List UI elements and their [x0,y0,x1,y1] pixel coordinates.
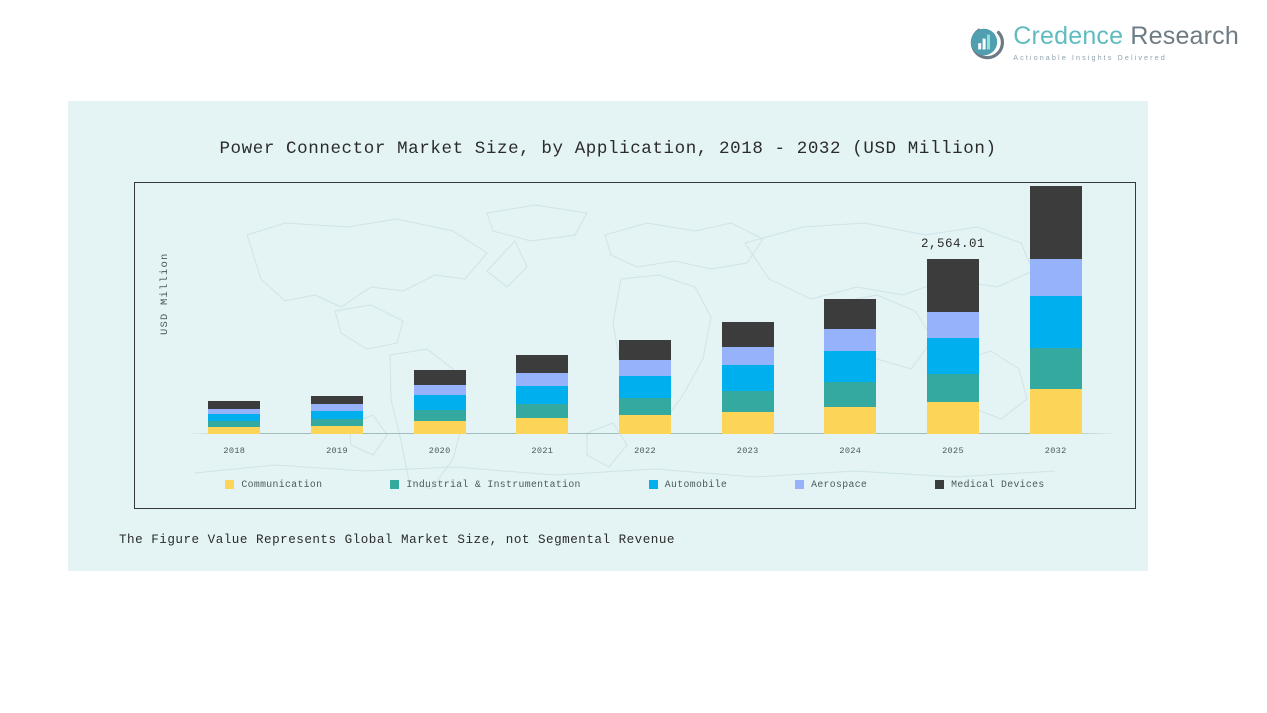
chart-legend: CommunicationIndustrial & Instrumentatio… [135,479,1135,490]
bar-segment-2018-communication[interactable] [208,427,260,434]
brand-name: Credence Research [1013,24,1239,49]
x-axis-tick-2019: 2019 [326,446,348,456]
bar-segment-2021-industrial-instrumentation[interactable] [516,404,568,418]
bar-2019[interactable] [311,396,363,434]
legend-label-aerospace: Aerospace [811,479,867,490]
legend-item-industrial-instrumentation[interactable]: Industrial & Instrumentation [390,479,580,490]
x-axis-tick-2018: 2018 [223,446,245,456]
bar-segment-2024-communication[interactable] [824,407,876,434]
bar-segment-2021-aerospace[interactable] [516,373,568,386]
x-axis-tick-2021: 2021 [531,446,553,456]
legend-item-medical-devices[interactable]: Medical Devices [935,479,1044,490]
x-axis-tick-2032: 2032 [1045,446,1067,456]
bar-segment-2022-medical-devices[interactable] [619,340,671,361]
legend-swatch-automobile [649,480,658,489]
legend-swatch-aerospace [795,480,804,489]
legend-item-communication[interactable]: Communication [225,479,322,490]
legend-label-automobile: Automobile [665,479,727,490]
brand-logo: Credence Research Actionable Insights De… [968,24,1239,61]
chart-title: Power Connector Market Size, by Applicat… [68,139,1148,159]
bar-segment-2032-aerospace[interactable] [1030,259,1082,296]
bar-2025[interactable]: 2,564.01 [927,259,979,434]
legend-label-industrial-instrumentation: Industrial & Instrumentation [406,479,580,490]
figure-note: The Figure Value Represents Global Marke… [119,533,675,547]
bar-segment-2020-automobile[interactable] [414,395,466,410]
bar-segment-2025-industrial-instrumentation[interactable] [927,374,979,403]
bar-segment-2023-aerospace[interactable] [722,347,774,365]
brand-wordmark: Credence Research Actionable Insights De… [1013,24,1239,61]
brand-tagline: Actionable Insights Delivered [1013,54,1239,61]
bar-segment-2019-communication[interactable] [311,426,363,434]
x-axis-tick-2024: 2024 [839,446,861,456]
bar-segment-2018-medical-devices[interactable] [208,401,260,408]
bar-segment-2021-communication[interactable] [516,418,568,434]
bar-segment-2032-communication[interactable] [1030,389,1082,434]
bar-segment-2022-communication[interactable] [619,415,671,434]
bar-segment-2023-medical-devices[interactable] [722,322,774,347]
legend-swatch-communication [225,480,234,489]
bar-segment-2020-communication[interactable] [414,421,466,434]
bar-segment-2022-industrial-instrumentation[interactable] [619,398,671,415]
bar-segment-2025-communication[interactable] [927,402,979,434]
brand-name-part2: Research [1130,22,1239,50]
plot-area: USD Million 2018201920202021202220232024… [134,182,1136,509]
bar-segment-2025-aerospace[interactable] [927,312,979,338]
legend-item-aerospace[interactable]: Aerospace [795,479,867,490]
legend-item-automobile[interactable]: Automobile [649,479,727,490]
bar-segment-2024-industrial-instrumentation[interactable] [824,382,876,407]
bar-segment-2019-industrial-instrumentation[interactable] [311,419,363,426]
bar-segment-2022-aerospace[interactable] [619,360,671,376]
bar-segment-2023-automobile[interactable] [722,365,774,391]
x-axis-tick-2025: 2025 [942,446,964,456]
bar-2021[interactable] [516,355,568,434]
bar-segment-2032-industrial-instrumentation[interactable] [1030,348,1082,389]
bar-2020[interactable] [414,370,466,434]
bar-segment-2018-automobile[interactable] [208,414,260,421]
x-axis-tick-2023: 2023 [737,446,759,456]
bar-segment-2020-industrial-instrumentation[interactable] [414,410,466,422]
bar-segment-2020-medical-devices[interactable] [414,370,466,384]
bar-segment-2024-medical-devices[interactable] [824,299,876,329]
bar-2032[interactable]: 3,640.49 [1030,186,1082,434]
bar-segment-2021-automobile[interactable] [516,386,568,404]
legend-label-medical-devices: Medical Devices [951,479,1044,490]
legend-label-communication: Communication [241,479,322,490]
bar-segment-2032-automobile[interactable] [1030,296,1082,348]
bar-2023[interactable] [722,322,774,434]
bar-value-label-2025: 2,564.01 [921,237,985,251]
x-axis-tick-2020: 2020 [429,446,451,456]
bar-segment-2025-medical-devices[interactable] [927,259,979,312]
bars-layer: 20182019202020212022202320242,564.012025… [135,183,1135,508]
bar-2024[interactable] [824,299,876,434]
bar-segment-2023-communication[interactable] [722,412,774,434]
bar-segment-2024-aerospace[interactable] [824,329,876,351]
bar-segment-2025-automobile[interactable] [927,338,979,374]
bar-segment-2023-industrial-instrumentation[interactable] [722,391,774,412]
legend-swatch-medical-devices [935,480,944,489]
brand-name-part1: Credence [1013,22,1123,50]
bar-segment-2032-medical-devices[interactable] [1030,186,1082,259]
x-axis-tick-2022: 2022 [634,446,656,456]
bar-segment-2021-medical-devices[interactable] [516,355,568,372]
bar-segment-2019-automobile[interactable] [311,411,363,420]
figure-panel: Power Connector Market Size, by Applicat… [68,101,1148,571]
bar-segment-2022-automobile[interactable] [619,376,671,398]
bar-segment-2020-aerospace[interactable] [414,385,466,395]
bar-chart-circle-icon [968,25,1004,61]
bar-segment-2024-automobile[interactable] [824,351,876,382]
bar-2022[interactable] [619,340,671,434]
bar-segment-2019-medical-devices[interactable] [311,396,363,404]
bar-2018[interactable] [208,401,260,434]
legend-swatch-industrial-instrumentation [390,480,399,489]
